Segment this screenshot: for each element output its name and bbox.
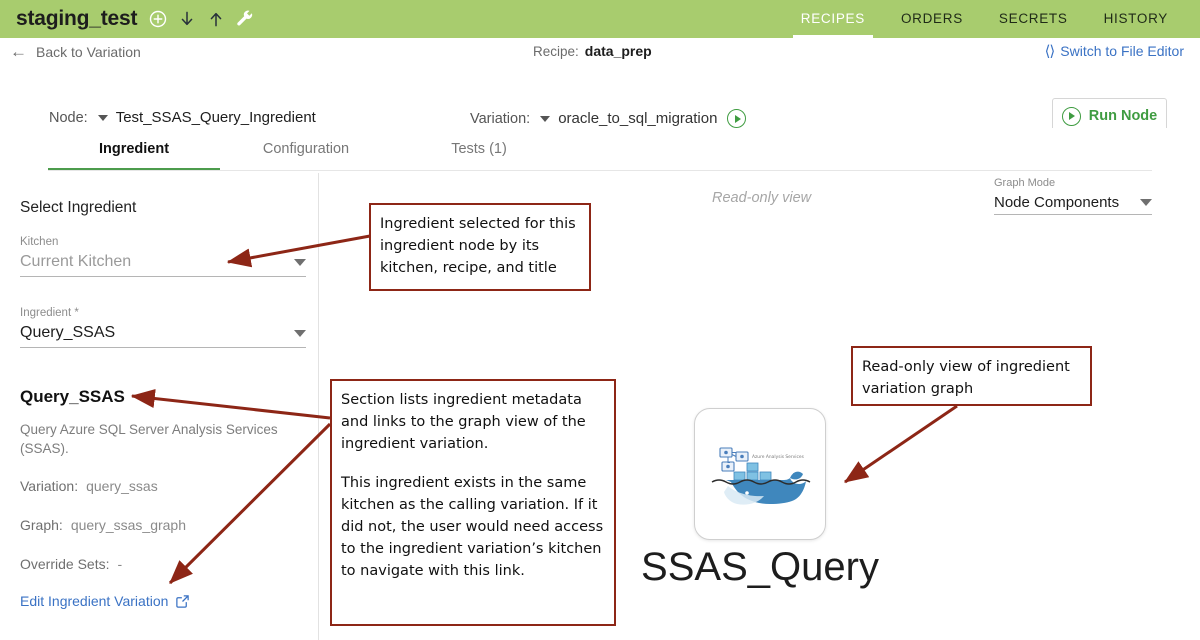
variation-value: oracle_to_sql_migration: [558, 110, 717, 127]
meta-override-sets-row: Override Sets:-: [20, 556, 122, 572]
annotation-metadata-text-2: This ingredient exists in the same kitch…: [341, 472, 605, 582]
wrench-icon[interactable]: [235, 9, 255, 29]
tab-strip: Ingredient Configuration Tests (1): [0, 128, 1200, 172]
annotation-metadata-text-1: Section lists ingredient metadata and li…: [341, 389, 605, 455]
kitchen-label: Kitchen: [20, 236, 306, 248]
variation-label: Variation:: [470, 111, 530, 127]
arrow-to-graph-node: [845, 406, 957, 482]
graph-mode-chevron-down-icon[interactable]: [1140, 199, 1152, 206]
meta-override-value: -: [117, 556, 122, 572]
app-title: staging_test: [16, 7, 137, 31]
upload-arrow-icon[interactable]: [206, 9, 226, 29]
switch-to-file-editor-label: Switch to File Editor: [1060, 43, 1184, 59]
meta-variation-value: query_ssas: [86, 478, 158, 494]
graph-mode-label: Graph Mode: [994, 177, 1152, 189]
meta-graph-label: Graph:: [20, 517, 63, 533]
recipe-breadcrumb: Recipe:data_prep: [533, 43, 652, 59]
download-arrow-icon[interactable]: [177, 9, 197, 29]
graph-mode-select-row[interactable]: Node Components: [994, 194, 1152, 215]
tab-configuration[interactable]: Configuration: [230, 128, 382, 171]
edit-ingredient-variation-link[interactable]: Edit Ingredient Variation: [20, 593, 190, 609]
docker-whale-azure-analysis-services-icon: Azure Analysis Services: [704, 428, 816, 520]
ingredient-label: Ingredient *: [20, 307, 306, 319]
ingredient-select[interactable]: Ingredient * Query_SSAS: [20, 307, 306, 348]
node-label: Node:: [49, 110, 88, 126]
graph-mode-value: Node Components: [994, 194, 1119, 211]
run-node-play-icon: [1062, 107, 1081, 126]
meta-override-label: Override Sets:: [20, 556, 109, 572]
panel-divider: [318, 173, 319, 640]
nav-tab-secrets[interactable]: SECRETS: [981, 0, 1086, 38]
graph-node-card[interactable]: Azure Analysis Services: [694, 408, 826, 540]
ingredient-select-row[interactable]: Query_SSAS: [20, 324, 306, 348]
kitchen-value: Current Kitchen: [20, 253, 131, 271]
kitchen-select[interactable]: Kitchen Current Kitchen: [20, 236, 306, 277]
kitchen-select-row[interactable]: Current Kitchen: [20, 253, 306, 277]
run-node-label: Run Node: [1089, 108, 1157, 124]
add-circle-icon[interactable]: [148, 9, 168, 29]
arrow-to-ingredient-meta-title: [132, 396, 330, 418]
annotation-readonly-graph: Read-only view of ingredient variation g…: [851, 346, 1092, 406]
appbar-nav: RECIPES ORDERS SECRETS HISTORY: [783, 0, 1200, 38]
annotation-metadata-section: Section lists ingredient metadata and li…: [330, 379, 616, 626]
ingredient-meta-title: Query_SSAS: [20, 387, 125, 407]
appbar-icon-group: [148, 9, 255, 29]
graph-node-caption: SSAS_Query: [600, 545, 920, 590]
tab-ingredient[interactable]: Ingredient: [48, 128, 220, 171]
kitchen-chevron-down-icon[interactable]: [294, 259, 306, 266]
meta-variation-row: Variation:query_ssas: [20, 478, 158, 494]
back-to-variation-link[interactable]: ← Back to Variation: [10, 43, 141, 60]
nav-tab-orders[interactable]: ORDERS: [883, 0, 981, 38]
external-link-icon: [175, 594, 190, 609]
edit-ingredient-variation-label: Edit Ingredient Variation: [20, 593, 168, 609]
tab-tests[interactable]: Tests (1): [404, 128, 554, 171]
variation-selector[interactable]: Variation: oracle_to_sql_migration: [470, 109, 746, 128]
sub-header: ← Back to Variation Recipe:data_prep ⟨⟩ …: [0, 38, 1200, 128]
annotation-ingredient-selection: Ingredient selected for this ingredient …: [369, 203, 591, 291]
back-arrow-icon: ←: [10, 43, 27, 60]
ingredient-meta-description: Query Azure SQL Server Analysis Services…: [20, 420, 300, 458]
annotation-readonly-graph-text: Read-only view of ingredient variation g…: [862, 356, 1081, 400]
select-ingredient-title: Select Ingredient: [20, 199, 136, 217]
annotation-ingredient-selection-text: Ingredient selected for this ingredient …: [380, 213, 580, 279]
node-selector[interactable]: Node: Test_SSAS_Query_Ingredient: [49, 109, 316, 126]
svg-text:Azure Analysis Services: Azure Analysis Services: [752, 454, 805, 460]
node-chevron-down-icon[interactable]: [98, 115, 108, 121]
ingredient-chevron-down-icon[interactable]: [294, 330, 306, 337]
app-bar: staging_test RECIPES ORDERS SECRETS HIST…: [0, 0, 1200, 38]
back-to-variation-label: Back to Variation: [36, 44, 141, 60]
recipe-value: data_prep: [585, 43, 652, 59]
variation-chevron-down-icon[interactable]: [540, 116, 550, 122]
tab-underline-divider: [48, 170, 1152, 171]
code-brackets-icon: ⟨⟩: [1045, 42, 1055, 60]
readonly-view-label: Read-only view: [712, 190, 811, 206]
graph-mode-select[interactable]: Graph Mode Node Components: [994, 177, 1152, 215]
switch-to-file-editor-link[interactable]: ⟨⟩ Switch to File Editor: [1045, 42, 1184, 60]
nav-tab-history[interactable]: HISTORY: [1086, 0, 1186, 38]
ingredient-value: Query_SSAS: [20, 324, 115, 342]
meta-graph-value: query_ssas_graph: [71, 517, 186, 533]
node-value: Test_SSAS_Query_Ingredient: [116, 109, 316, 126]
meta-graph-row: Graph:query_ssas_graph: [20, 517, 186, 533]
recipe-label: Recipe:: [533, 44, 579, 59]
nav-tab-recipes[interactable]: RECIPES: [783, 0, 883, 38]
meta-variation-label: Variation:: [20, 478, 78, 494]
run-variation-play-icon[interactable]: [727, 109, 746, 128]
